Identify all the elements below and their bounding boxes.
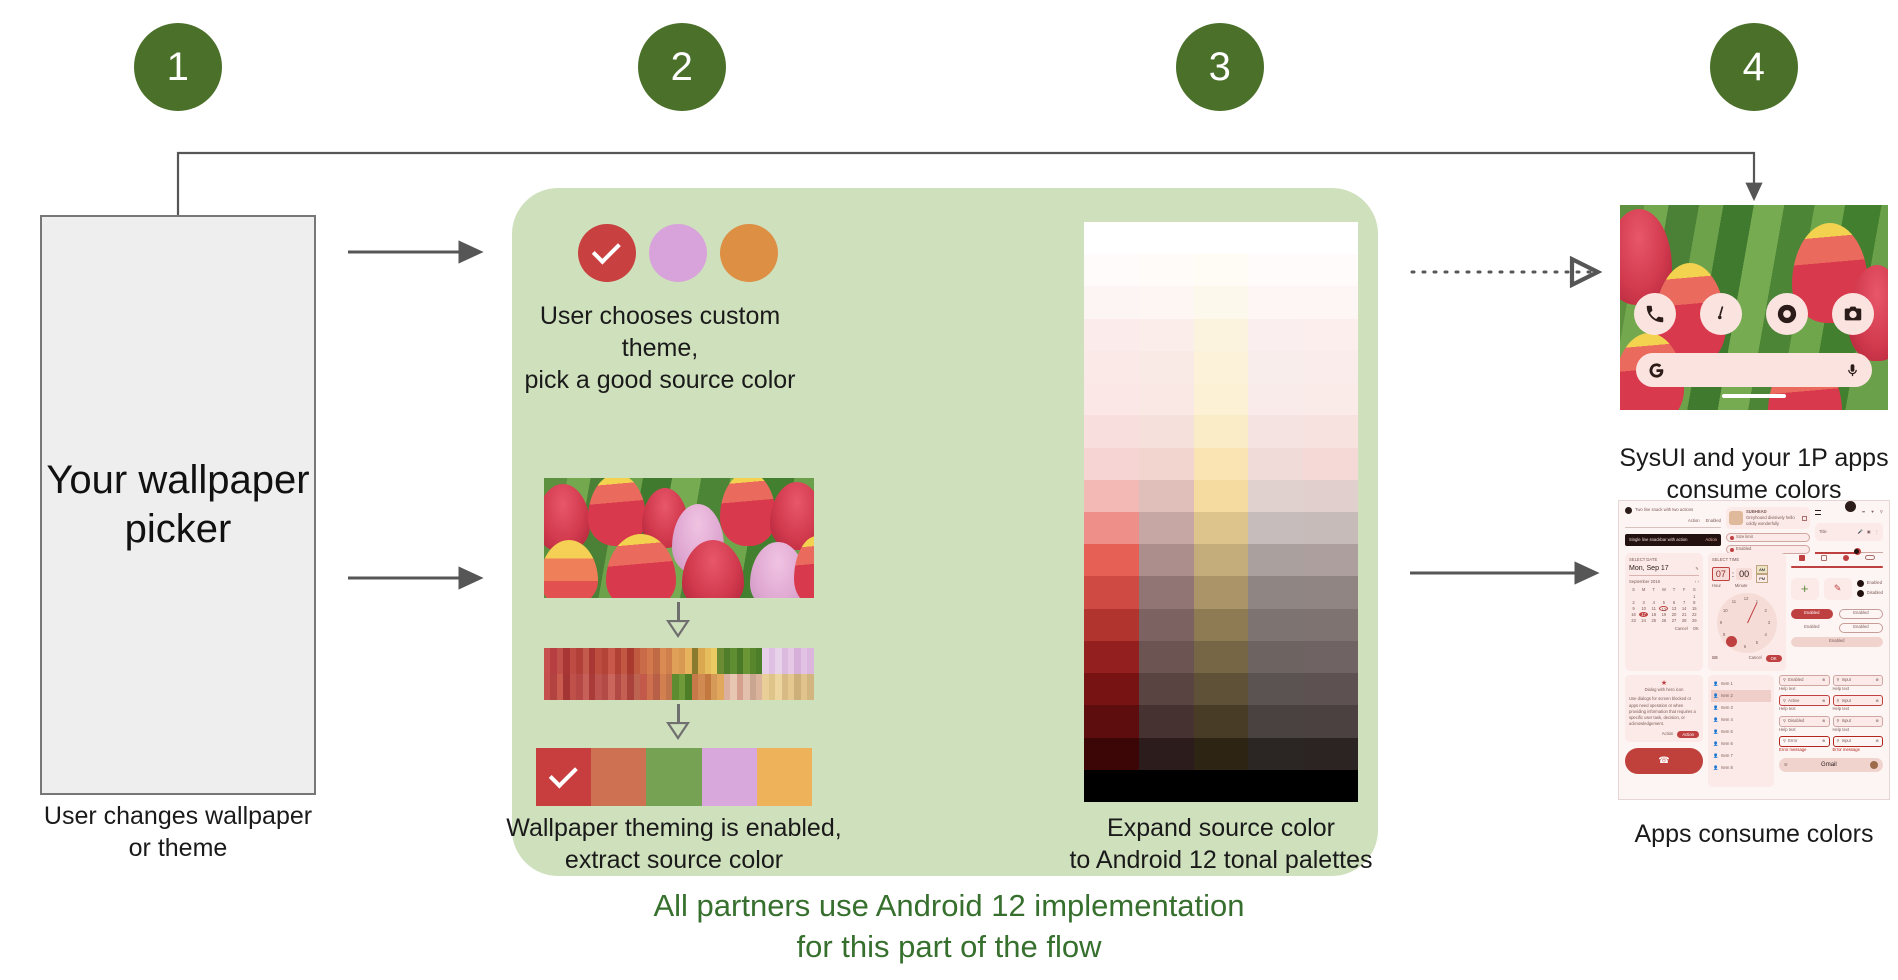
step-badge-2-label: 2	[671, 45, 694, 90]
source-swatch-red[interactable]	[536, 748, 591, 806]
wallpaper-picker-box[interactable]: Your wallpaper picker	[40, 215, 316, 795]
date-cell[interactable]	[1680, 594, 1689, 599]
date-cell[interactable]: 14	[1680, 606, 1689, 611]
tonal-cell	[1248, 319, 1303, 351]
tonal-cell	[1194, 383, 1249, 415]
tonal-cell	[1194, 673, 1249, 705]
clear-icon[interactable]: ⊗	[1822, 677, 1826, 683]
date-cell[interactable]: 15	[1690, 606, 1699, 611]
chevron-down-icon	[664, 620, 692, 638]
person-icon: 👤	[1713, 753, 1718, 759]
search-icon: ⚲	[1837, 698, 1840, 704]
clear-icon[interactable]: ⊗	[1875, 718, 1879, 724]
histogram-row-top	[544, 648, 814, 674]
tonal-cell	[1084, 319, 1139, 351]
date-cell[interactable]: 1	[1690, 594, 1699, 599]
tonal-cell	[1139, 641, 1194, 673]
time-picker-ok[interactable]: OK	[1766, 655, 1782, 662]
tonal-cell	[1194, 480, 1249, 512]
clear-icon[interactable]: ⊗	[1875, 698, 1879, 704]
minute-label: Minute	[1735, 583, 1748, 589]
tonal-cell	[1248, 415, 1303, 447]
date-picker-overline: SELECT DATE	[1629, 557, 1699, 563]
tonal-cell	[1303, 415, 1358, 447]
step-badge-1-label: 1	[167, 45, 190, 90]
list-item[interactable]: 👤Item 5	[1711, 726, 1771, 738]
clock-hour-label[interactable]: 5	[1756, 640, 1758, 646]
source-color-swatch-row[interactable]	[536, 748, 812, 806]
search-icon: ⚲	[1783, 698, 1786, 704]
tonal-column-tertiary	[1194, 222, 1249, 802]
text-field[interactable]: ⚲Error⊗Error message	[1779, 736, 1830, 753]
chrome-icon[interactable]	[1766, 293, 1808, 335]
dialog-body: Use dialogs for screen blocked or apps n…	[1629, 696, 1699, 727]
tonal-cell	[1248, 738, 1303, 770]
edit-fab[interactable]: ✎	[1824, 578, 1852, 600]
color-histogram-strip	[544, 648, 814, 700]
text-field-helper: Error message	[1779, 747, 1830, 753]
date-cell[interactable]: 29	[1690, 618, 1699, 623]
tonal-cell	[1139, 544, 1194, 576]
tonal-cell	[1139, 673, 1194, 705]
tonal-cell	[1084, 383, 1139, 415]
person-icon: 👤	[1713, 693, 1718, 699]
tonal-cell	[1084, 738, 1139, 770]
weekday-label: F	[1680, 587, 1689, 593]
date-cell[interactable]	[1669, 594, 1678, 599]
text-field-label: Error	[1788, 738, 1820, 744]
clock-hour-label[interactable]: 10	[1723, 608, 1728, 614]
text-field-helper: Help text	[1779, 686, 1830, 692]
tonal-cell	[1248, 705, 1303, 737]
hour-label: Hour	[1712, 583, 1721, 589]
list-item[interactable]: 👤Item 1	[1711, 678, 1771, 690]
hero-icon: ★	[1629, 679, 1699, 687]
person-icon: 👤	[1713, 681, 1718, 687]
tonal-cell	[1248, 448, 1303, 480]
tonal-cell	[1139, 770, 1194, 802]
wallpaper-thumbnail	[544, 478, 814, 598]
text-field-label: Input	[1842, 677, 1874, 683]
tonal-cell	[1139, 351, 1194, 383]
tonal-cell	[1248, 770, 1303, 802]
sysui-home-screen-mockup	[1620, 205, 1888, 410]
tonal-cell	[1303, 351, 1358, 383]
tonal-cell	[1084, 351, 1139, 383]
tonal-cell	[1139, 738, 1194, 770]
weekday-label: T	[1669, 587, 1678, 593]
extract-arrow-top	[664, 602, 692, 643]
keyboard-icon[interactable]: ⌨	[1712, 655, 1718, 661]
overflow-icon[interactable]: ⋮	[1875, 529, 1879, 535]
text-field-label: Disabled	[1788, 718, 1820, 724]
google-g-icon	[1648, 362, 1665, 379]
tonal-cell	[1084, 480, 1139, 512]
list-item-label: Item 4	[1721, 717, 1733, 723]
text-field-label: Active	[1788, 698, 1820, 704]
text-button-label: Enabled	[1804, 624, 1819, 630]
clear-icon[interactable]: ⊗	[1822, 718, 1826, 724]
tonal-cell	[1084, 705, 1139, 737]
step-badge-4-label: 4	[1743, 45, 1766, 90]
text-field[interactable]: ⚲Input⊗Help text	[1833, 675, 1884, 692]
check-icon	[592, 235, 621, 264]
search-icon[interactable]: ⚲	[1880, 509, 1883, 515]
text-field-helper: Help text	[1779, 706, 1830, 712]
text-field[interactable]: ⚲Input⊗Help text	[1833, 695, 1884, 712]
list-item[interactable]: 👤Item 3	[1711, 702, 1771, 714]
clock-hour-label[interactable]: 11	[1732, 599, 1736, 605]
snackbar-text: Two line snack with two actions	[1635, 507, 1693, 513]
list-item[interactable]: 👤Item 4	[1711, 714, 1771, 726]
tonal-cell	[1139, 286, 1194, 318]
tonal-cell	[1084, 576, 1139, 608]
check-icon	[548, 759, 577, 788]
phone-icon[interactable]	[1634, 293, 1676, 335]
tonal-cell	[1303, 705, 1358, 737]
tonal-cell	[1303, 544, 1358, 576]
step-badge-1: 1	[134, 23, 222, 111]
date-cell[interactable]: 19	[1659, 612, 1668, 617]
tonal-cell	[1139, 705, 1194, 737]
clock-hand	[1747, 602, 1757, 622]
text-field[interactable]: ⚲Enabled⊗Help text	[1779, 675, 1830, 692]
tonal-cell	[1139, 512, 1194, 544]
tonal-cell	[1303, 254, 1358, 286]
person-icon: 👤	[1713, 705, 1718, 711]
menu-icon[interactable]: ☰	[1784, 762, 1788, 768]
search-icon: ⚲	[1837, 718, 1840, 724]
apps-component-sheet-mockup: Two line snack with two actions Action E…	[1618, 500, 1890, 800]
date-cell[interactable]: 28	[1680, 618, 1689, 623]
date-cell[interactable]: 16	[1629, 612, 1638, 617]
tonal-cell	[1303, 383, 1358, 415]
histogram-bar	[807, 648, 813, 674]
tonal-cell	[1303, 319, 1358, 351]
tonal-cell	[1084, 641, 1139, 673]
google-search-bar[interactable]	[1636, 353, 1872, 387]
dialog-card: ★ Dialog with hero icon Use dialogs for …	[1625, 675, 1703, 742]
step-badge-2: 2	[638, 23, 726, 111]
step-badge-3: 3	[1176, 23, 1264, 111]
tonal-cell	[1139, 254, 1194, 286]
messages-icon[interactable]	[1700, 293, 1742, 335]
snackbar-enabled[interactable]: Enabled	[1706, 518, 1721, 524]
month-nav[interactable]: ‹ ›	[1695, 579, 1699, 585]
tonal-cell	[1303, 576, 1358, 608]
theme-swatch-orange[interactable]	[720, 224, 778, 282]
date-cell[interactable]	[1629, 594, 1638, 599]
tonal-cell	[1194, 738, 1249, 770]
tonal-cell	[1084, 673, 1139, 705]
date-cell[interactable]: 25	[1649, 618, 1658, 623]
filled-button[interactable]: Enabled	[1791, 609, 1833, 619]
date-picker-headline: Mon, Sep 17	[1629, 565, 1669, 572]
date-cell[interactable]	[1659, 594, 1668, 599]
clear-icon[interactable]: ⊗	[1875, 677, 1879, 683]
date-cell[interactable]: 23	[1629, 618, 1638, 623]
text-field-helper: Help text	[1833, 727, 1884, 733]
person-icon: 👤	[1713, 741, 1718, 747]
tonal-cell	[1084, 770, 1139, 802]
dark-snackbar-action[interactable]: Action	[1705, 537, 1717, 543]
dialog-title: Dialog with hero icon	[1629, 687, 1699, 693]
toolbar-title: Title	[1819, 529, 1827, 535]
chip-label[interactable]: Enabled	[1736, 546, 1751, 552]
tonal-cell	[1303, 673, 1358, 705]
sysui-caption: SysUI and your 1P apps consume colors	[1594, 442, 1898, 506]
clock-hour-label[interactable]: 3	[1768, 620, 1770, 626]
clock-hour-label[interactable]: 12	[1744, 596, 1749, 602]
tonal-cell	[1248, 351, 1303, 383]
date-picker-grid[interactable]: SMTWTFS123456789101112131415161718192021…	[1629, 587, 1699, 623]
bottom-app-bar[interactable]: ☰ Gmail	[1779, 758, 1883, 772]
date-cell[interactable]: 17	[1639, 612, 1648, 617]
date-cell[interactable]: 10	[1639, 606, 1648, 611]
person-icon: 👤	[1713, 729, 1718, 735]
text-field-helper: Help text	[1833, 706, 1884, 712]
edit-icon[interactable]: ✎	[1695, 566, 1699, 572]
date-cell[interactable]: 18	[1649, 612, 1658, 617]
date-picker-ok[interactable]: OK	[1693, 626, 1699, 632]
diagram-canvas: 1 2 3 4 Your wallpaper picker User chang…	[0, 0, 1898, 980]
date-cell[interactable]: 3	[1639, 600, 1648, 605]
avatar[interactable]	[1870, 761, 1878, 769]
tonal-cell	[1303, 222, 1358, 254]
tonal-cell	[1139, 415, 1194, 447]
time-picker-pm[interactable]: PM	[1756, 574, 1768, 583]
tonal-cell	[1084, 254, 1139, 286]
chip-label[interactable]: Size limit	[1736, 534, 1753, 540]
bottom-bar-label: Gmail	[1821, 762, 1837, 768]
favorite-icon[interactable]: ♥	[1871, 509, 1874, 515]
image-icon[interactable]: ▣	[1867, 529, 1871, 535]
home-indicator	[1722, 394, 1786, 398]
clock-hour-label[interactable]: 8	[1723, 632, 1725, 638]
tonal-cell	[1248, 641, 1303, 673]
date-picker-cancel[interactable]: Cancel	[1675, 626, 1688, 632]
tonal-cell	[1248, 254, 1303, 286]
list-item-label: Item 3	[1721, 705, 1733, 711]
clear-icon[interactable]: ⊗	[1822, 738, 1826, 744]
date-cell[interactable]: 5	[1659, 600, 1668, 605]
theme-swatch-lilac[interactable]	[649, 224, 707, 282]
source-swatch-green[interactable]	[646, 748, 701, 806]
tonal-cell	[1139, 480, 1194, 512]
list-item[interactable]: 👤Item 2	[1711, 690, 1771, 702]
tonal-cell	[1194, 576, 1249, 608]
microphone-icon[interactable]	[1845, 363, 1860, 378]
clock-hour-label[interactable]: 6	[1744, 644, 1746, 650]
share-icon[interactable]: ➦	[1862, 509, 1866, 515]
step-badge-3-label: 3	[1209, 45, 1232, 90]
wallpaper-picker-caption: User changes wallpaper or theme	[20, 800, 336, 864]
source-swatch-terracotta[interactable]	[591, 748, 646, 806]
search-icon: ⚲	[1837, 677, 1840, 683]
apps-caption: Apps consume colors	[1594, 818, 1898, 850]
text-field[interactable]: ⚲Input⊗Help text	[1833, 716, 1884, 733]
text-field-label: Input	[1842, 738, 1874, 744]
tonal-cell	[1248, 512, 1303, 544]
date-cell[interactable]: 27	[1669, 618, 1678, 623]
tonal-cell	[1248, 222, 1303, 254]
date-cell[interactable]	[1649, 594, 1658, 599]
tonal-column-neutral	[1248, 222, 1303, 802]
text-field-helper: Help text	[1833, 686, 1884, 692]
checkbox-checked[interactable]	[1799, 555, 1805, 561]
outlined-button[interactable]: Enabled	[1839, 623, 1883, 633]
outlined-button[interactable]: Enabled	[1839, 609, 1883, 619]
tonal-cell	[1139, 609, 1194, 641]
text-button[interactable]: Enabled	[1791, 623, 1833, 633]
app-icon-row[interactable]	[1634, 293, 1874, 335]
weekday-label: T	[1649, 587, 1658, 593]
search-icon: ⚲	[1837, 738, 1840, 744]
list-item-label: Item 7	[1721, 753, 1733, 759]
date-cell[interactable]: 7	[1680, 600, 1689, 605]
time-picker-cancel[interactable]: Cancel	[1749, 655, 1762, 661]
text-field[interactable]: ⚲Input⊗Error message	[1833, 736, 1884, 753]
date-cell[interactable]	[1639, 594, 1648, 599]
tonal-cell	[1303, 286, 1358, 318]
tonal-column-neutral-variant	[1303, 222, 1358, 802]
text-field[interactable]: ⚲Disabled⊗Help text	[1779, 716, 1830, 733]
tonal-cell	[1139, 576, 1194, 608]
tonal-palette-caption: Expand source color to Android 12 tonal …	[1060, 812, 1382, 876]
tonal-cell	[1303, 609, 1358, 641]
mic-icon[interactable]: 🎤	[1858, 529, 1863, 535]
date-cell[interactable]: 9	[1629, 606, 1638, 611]
date-cell[interactable]: 21	[1680, 612, 1689, 617]
tonal-cell	[1139, 319, 1194, 351]
dialog-text-action[interactable]: Action	[1662, 731, 1674, 737]
toggle-label: Enabled	[1867, 580, 1882, 586]
person-icon: 👤	[1713, 765, 1718, 771]
tonal-palette-grid	[1084, 222, 1358, 802]
tonal-cell	[1248, 480, 1303, 512]
list-item-label: Item 6	[1721, 741, 1733, 747]
clock-selector[interactable]	[1726, 636, 1737, 647]
camera-icon[interactable]	[1832, 293, 1874, 335]
source-swatch-amber[interactable]	[757, 748, 812, 806]
time-picker-minute[interactable]: 00	[1736, 568, 1752, 580]
date-cell[interactable]: 22	[1690, 612, 1699, 617]
list-card[interactable]: 👤Item 1👤Item 2👤Item 3👤Item 4👤Item 5👤Item…	[1708, 675, 1774, 787]
dialog-filled-action[interactable]: Action	[1677, 731, 1699, 738]
search-icon: ⚲	[1783, 677, 1786, 683]
outlined-button-label: Enabled	[1853, 624, 1868, 630]
text-field-grid[interactable]: ⚲Enabled⊗Help text⚲Input⊗Help text⚲Activ…	[1779, 675, 1883, 753]
date-cell[interactable]: 24	[1639, 618, 1648, 623]
date-cell[interactable]: 8	[1690, 600, 1699, 605]
date-cell[interactable]: 2	[1629, 600, 1638, 605]
fab-icon[interactable]	[1845, 501, 1856, 512]
date-cell[interactable]: 4	[1649, 600, 1658, 605]
date-cell[interactable]: 11	[1649, 606, 1658, 611]
time-picker-separator: :	[1732, 570, 1734, 579]
tonal-cell	[1194, 609, 1249, 641]
date-picker-card: SELECT DATE Mon, Sep 17 ✎ September 2018…	[1625, 553, 1703, 671]
tonal-cell	[1194, 448, 1249, 480]
text-field-helper: Help text	[1779, 727, 1830, 733]
text-field[interactable]: ⚲Active⊗Help text	[1779, 695, 1830, 712]
weekday-label: M	[1639, 587, 1648, 593]
date-cell[interactable]: 13	[1669, 606, 1678, 611]
tonal-cell	[1194, 351, 1249, 383]
text-field-label: Enabled	[1788, 677, 1820, 683]
tonal-cell	[1084, 609, 1139, 641]
toggle-label: Disabled	[1867, 590, 1883, 596]
source-swatch-lilac[interactable]	[702, 748, 757, 806]
clear-icon[interactable]: ⊗	[1822, 698, 1826, 704]
wallpaper-picker-label: Your wallpaper picker	[42, 456, 314, 554]
dark-snackbar-text: Single line snackbar with action	[1629, 537, 1687, 543]
tonal-cell	[1139, 448, 1194, 480]
tonal-cell	[1084, 415, 1139, 447]
tonal-cell	[1303, 738, 1358, 770]
list-item-label: Item 1	[1721, 681, 1733, 687]
add-fab[interactable]: +	[1791, 578, 1819, 600]
weekday-label: W	[1659, 587, 1668, 593]
tonal-cell	[1248, 286, 1303, 318]
custom-theme-caption: User chooses custom theme, pick a good s…	[500, 300, 820, 396]
list-item[interactable]: 👤Item 8	[1711, 762, 1771, 774]
theme-swatch-red[interactable]	[578, 224, 636, 282]
clock-hour-label[interactable]: 9	[1720, 620, 1722, 626]
tulip-shape	[720, 478, 776, 546]
tonal-cell	[1194, 770, 1249, 802]
tonal-cell	[1248, 544, 1303, 576]
list-item[interactable]: 👤Item 7	[1711, 750, 1771, 762]
tonal-cell	[1194, 641, 1249, 673]
tonal-cell	[1194, 705, 1249, 737]
date-cell[interactable]: 6	[1669, 600, 1678, 605]
date-cell[interactable]: 26	[1659, 618, 1668, 623]
list-item-label: Item 5	[1721, 729, 1733, 735]
tonal-cell	[1194, 254, 1249, 286]
weekday-label: S	[1690, 587, 1699, 593]
time-picker-hour[interactable]: 07	[1712, 567, 1730, 581]
time-picker-am[interactable]: AM	[1756, 565, 1768, 574]
clock-hour-label[interactable]: 2	[1765, 608, 1767, 614]
clear-icon[interactable]: ⊗	[1875, 738, 1879, 744]
tonal-cell	[1139, 222, 1194, 254]
tonal-button[interactable]: Enabled	[1791, 637, 1883, 647]
histogram-row-bottom	[544, 674, 814, 700]
wallpaper-extract-caption: Wallpaper theming is enabled, extract so…	[500, 812, 848, 876]
text-field-label: Input	[1842, 698, 1874, 704]
tonal-cell	[1194, 544, 1249, 576]
date-picker-month[interactable]: September 2018	[1629, 579, 1660, 585]
custom-theme-swatch-row[interactable]	[578, 224, 778, 282]
date-cell[interactable]: 20	[1669, 612, 1678, 617]
search-icon: ⚲	[1783, 718, 1786, 724]
tonal-button-label: Enabled	[1829, 638, 1844, 644]
clock-hour-label[interactable]: 4	[1765, 632, 1767, 638]
extended-fab[interactable]: ☎	[1625, 748, 1703, 774]
tonal-cell	[1139, 383, 1194, 415]
date-cell[interactable]: 12	[1659, 606, 1668, 611]
tonal-cell	[1194, 319, 1249, 351]
snackbar-action[interactable]: Action	[1688, 518, 1700, 524]
tonal-cell	[1084, 222, 1139, 254]
list-item[interactable]: 👤Item 6	[1711, 738, 1771, 750]
tonal-cell	[1194, 222, 1249, 254]
clock-dial[interactable]: 123456789101112	[1717, 593, 1777, 653]
list-supporting-text: Greyhound divisively hello coldly wonder…	[1746, 515, 1799, 528]
filled-button-label: Enabled	[1804, 610, 1819, 616]
tonal-cell	[1194, 415, 1249, 447]
